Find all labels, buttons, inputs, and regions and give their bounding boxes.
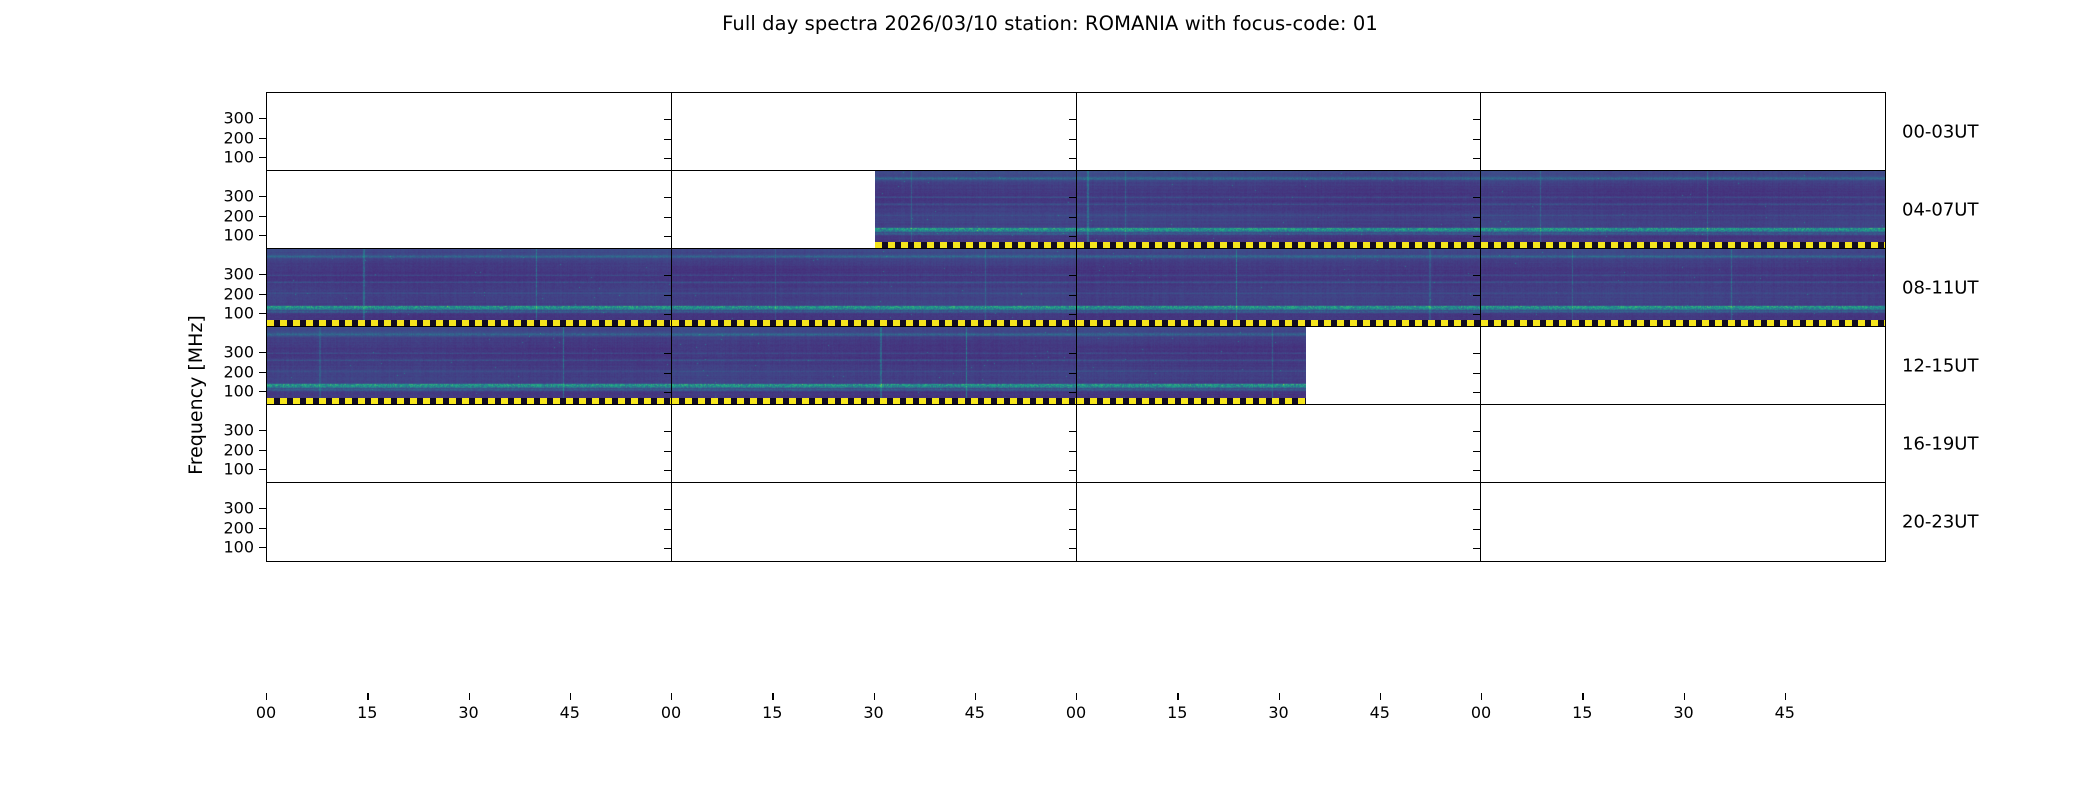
x-tick-label-13: 15 [1572,703,1592,722]
y-tick-label-200: 200 [192,206,254,225]
y-tick-inner-200 [1473,139,1480,140]
hour-panel-22[interactable] [1076,483,1481,561]
panel-group [267,483,1885,561]
y-tick-label-100: 100 [192,226,254,245]
hour-panel-14[interactable] [1076,327,1481,405]
hour-panel-13[interactable] [671,327,1076,405]
y-tick-inner-100 [1473,236,1480,237]
y-tick-inner-300 [1069,119,1076,120]
hour-panel-6[interactable] [1076,171,1481,249]
x-tick-10 [1279,693,1280,700]
y-tick-inner-300 [1069,509,1076,510]
y-tick-inner-200 [664,295,671,296]
y-tick-inner-200 [1473,451,1480,452]
y-tick-200 [259,450,266,451]
spectrogram-row-04-07ut[interactable] [266,170,1886,250]
spectrogram-image [1481,249,1885,327]
y-tick-inner-300 [664,275,671,276]
y-tick-label-200: 200 [192,284,254,303]
y-tick-label-100: 100 [192,538,254,557]
spectrogram-image [672,249,1076,327]
hour-panel-16[interactable] [267,405,671,483]
x-tick-2 [469,693,470,700]
y-tick-label-200: 200 [192,362,254,381]
y-tick-100 [259,313,266,314]
x-tick-9 [1177,693,1178,700]
y-tick-inner-200 [664,139,671,140]
x-tick-3 [570,693,571,700]
y-tick-100 [259,391,266,392]
row-label-08-11ut: 08-11UT [1902,278,1978,299]
x-tick-label-8: 00 [1066,703,1086,722]
hour-panel-23[interactable] [1480,483,1885,561]
x-tick-14 [1684,693,1685,700]
hour-panel-1[interactable] [671,93,1076,171]
hour-panel-2[interactable] [1076,93,1481,171]
x-tick-label-0: 00 [256,703,276,722]
spectrogram-row-16-19ut[interactable] [266,404,1886,484]
hour-panel-8[interactable] [267,249,671,327]
y-tick-label-100: 100 [192,304,254,323]
hour-panel-19[interactable] [1480,405,1885,483]
spectrogram-image [1481,171,1885,249]
y-tick-inner-100 [1473,548,1480,549]
hour-panel-12[interactable] [267,327,671,405]
y-tick-inner-300 [1069,353,1076,354]
y-tick-inner-300 [1069,197,1076,198]
y-tick-inner-100 [664,470,671,471]
y-tick-label-300: 300 [192,343,254,362]
y-tick-100 [259,235,266,236]
y-tick-300 [259,352,266,353]
x-tick-label-14: 30 [1673,703,1693,722]
y-tick-inner-200 [1473,295,1480,296]
y-tick-inner-100 [664,392,671,393]
y-tick-inner-200 [1069,451,1076,452]
figure-title: Full day spectra 2026/03/10 station: ROM… [0,12,2100,35]
y-tick-inner-100 [664,236,671,237]
y-tick-label-300: 300 [192,109,254,128]
y-tick-inner-200 [1473,373,1480,374]
y-tick-inner-100 [1473,158,1480,159]
y-tick-inner-100 [664,314,671,315]
y-tick-inner-300 [664,509,671,510]
y-tick-200 [259,528,266,529]
y-tick-inner-200 [1069,295,1076,296]
x-tick-label-9: 15 [1167,703,1187,722]
panel-group [267,405,1885,483]
spectrogram-row-00-03ut[interactable] [266,92,1886,172]
spectrogram-image [1077,249,1481,327]
hour-panel-9[interactable] [671,249,1076,327]
y-tick-100 [259,157,266,158]
x-tick-13 [1582,693,1583,700]
panel-group [267,171,1885,249]
hour-panel-0[interactable] [267,93,671,171]
y-tick-inner-200 [1069,529,1076,530]
x-tick-8 [1076,693,1077,700]
x-tick-label-4: 00 [661,703,681,722]
y-tick-label-200: 200 [192,518,254,537]
hour-panel-11[interactable] [1480,249,1885,327]
hour-panel-18[interactable] [1076,405,1481,483]
y-tick-label-300: 300 [192,499,254,518]
spectrogram-image [1077,171,1481,249]
row-label-04-07ut: 04-07UT [1902,200,1978,221]
y-tick-inner-100 [664,158,671,159]
y-tick-100 [259,469,266,470]
y-tick-300 [259,196,266,197]
y-tick-300 [259,118,266,119]
row-label-00-03ut: 00-03UT [1902,122,1978,143]
y-tick-inner-300 [664,119,671,120]
hour-panel-10[interactable] [1076,249,1481,327]
y-tick-label-300: 300 [192,265,254,284]
y-tick-inner-300 [664,197,671,198]
y-tick-label-300: 300 [192,187,254,206]
y-tick-inner-200 [1069,373,1076,374]
panel-group [267,249,1885,327]
hour-panel-17[interactable] [671,405,1076,483]
row-label-20-23ut: 20-23UT [1902,512,1978,533]
spectrogram-row-20-23ut[interactable] [266,482,1886,562]
x-tick-label-7: 45 [965,703,985,722]
spectrogram-row-12-15ut[interactable] [266,326,1886,406]
y-tick-inner-300 [1473,353,1480,354]
y-tick-inner-100 [1473,314,1480,315]
x-tick-label-12: 00 [1471,703,1491,722]
y-tick-inner-100 [1069,470,1076,471]
y-tick-inner-100 [1069,548,1076,549]
row-label-16-19ut: 16-19UT [1902,434,1978,455]
hour-panel-5[interactable] [671,171,1076,249]
spectrogram-row-08-11ut[interactable] [266,248,1886,328]
y-tick-inner-300 [1473,197,1480,198]
y-tick-200 [259,372,266,373]
y-tick-100 [259,547,266,548]
y-tick-inner-100 [1473,470,1480,471]
spectrogram-image [875,171,1076,249]
y-tick-label-100: 100 [192,460,254,479]
y-tick-300 [259,508,266,509]
x-tick-label-1: 15 [357,703,377,722]
y-tick-300 [259,274,266,275]
x-tick-11 [1380,693,1381,700]
spectrogram-image [267,327,671,405]
y-tick-inner-300 [1069,275,1076,276]
x-tick-4 [671,693,672,700]
spectrogram-figure: Full day spectra 2026/03/10 station: ROM… [0,0,2100,800]
y-tick-label-100: 100 [192,148,254,167]
x-tick-label-10: 30 [1268,703,1288,722]
y-tick-200 [259,138,266,139]
x-tick-label-5: 15 [762,703,782,722]
y-tick-inner-100 [1473,392,1480,393]
y-tick-inner-200 [1069,139,1076,140]
y-tick-inner-300 [1473,431,1480,432]
y-tick-inner-300 [664,353,671,354]
y-tick-200 [259,294,266,295]
y-tick-inner-200 [1473,529,1480,530]
x-tick-label-3: 45 [560,703,580,722]
hour-panel-4[interactable] [267,171,671,249]
x-tick-5 [772,693,773,700]
y-tick-inner-200 [664,373,671,374]
y-tick-inner-100 [1069,392,1076,393]
x-tick-15 [1785,693,1786,700]
x-tick-1 [367,693,368,700]
x-tick-label-11: 45 [1370,703,1390,722]
hour-panel-21[interactable] [671,483,1076,561]
x-tick-label-2: 30 [458,703,478,722]
y-tick-inner-300 [1069,431,1076,432]
y-tick-label-200: 200 [192,128,254,147]
y-tick-200 [259,216,266,217]
x-tick-label-15: 45 [1775,703,1795,722]
x-tick-7 [975,693,976,700]
y-tick-300 [259,430,266,431]
y-tick-inner-300 [1473,119,1480,120]
hour-panel-15[interactable] [1480,327,1885,405]
y-tick-inner-200 [1069,217,1076,218]
x-tick-label-6: 30 [863,703,883,722]
y-tick-inner-100 [664,548,671,549]
hour-panel-7[interactable] [1480,171,1885,249]
y-tick-inner-300 [664,431,671,432]
spectrogram-image [1077,327,1306,405]
y-tick-label-100: 100 [192,382,254,401]
spectrogram-image [267,249,671,327]
panel-group [267,327,1885,405]
y-tick-label-300: 300 [192,421,254,440]
x-tick-6 [874,693,875,700]
y-tick-inner-200 [664,451,671,452]
y-tick-inner-200 [664,217,671,218]
y-tick-label-200: 200 [192,440,254,459]
x-tick-12 [1481,693,1482,700]
panel-group [267,93,1885,171]
y-tick-inner-300 [1473,509,1480,510]
row-label-12-15ut: 12-15UT [1902,356,1978,377]
hour-panel-20[interactable] [267,483,671,561]
y-tick-inner-200 [664,529,671,530]
y-tick-inner-100 [1069,158,1076,159]
y-tick-inner-300 [1473,275,1480,276]
y-tick-inner-100 [1069,236,1076,237]
y-tick-inner-200 [1473,217,1480,218]
hour-panel-3[interactable] [1480,93,1885,171]
x-tick-0 [266,693,267,700]
spectrogram-image [672,327,1076,405]
y-tick-inner-100 [1069,314,1076,315]
